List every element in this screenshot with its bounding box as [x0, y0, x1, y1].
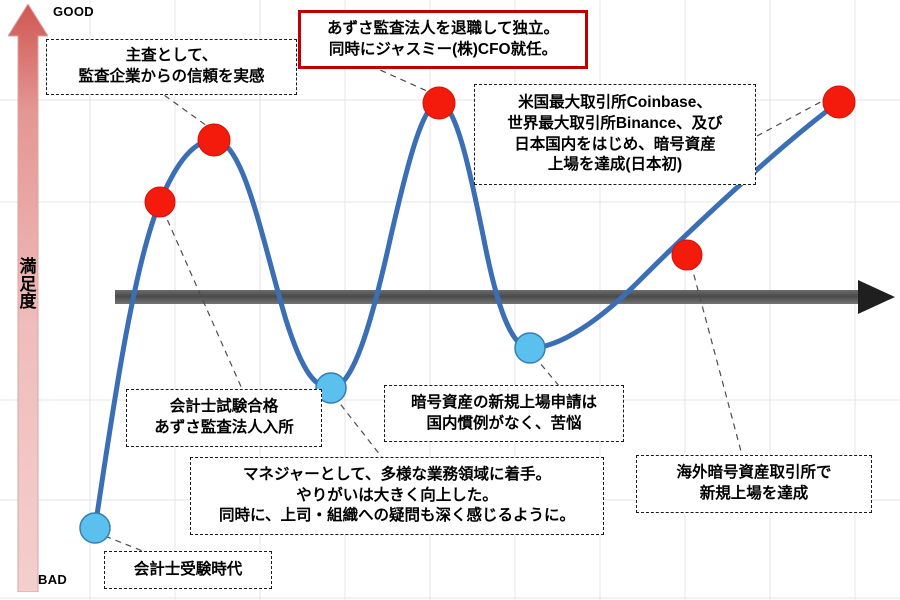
callout-independent[interactable]: あずさ監査法人を退職して独立。 同時にジャスミー(株)CFO就任。	[298, 10, 588, 69]
marker-independent	[423, 87, 455, 119]
satisfaction-journey-chart: 満 足 度 GOOD BAD	[0, 0, 900, 600]
marker-shusa	[198, 124, 230, 156]
callout-cpa-pass[interactable]: 会計士試験合格 あずさ監査法人入所	[126, 389, 322, 447]
callout-listing-pain[interactable]: 暗号資産の新規上場申請は 国内慣例がなく、苦悩	[384, 385, 624, 442]
marker-overseas	[672, 240, 702, 270]
marker-exam-era	[80, 513, 110, 543]
callout-exchanges[interactable]: 米国最大取引所Coinbase、 世界最大取引所Binance、及び 日本国内を…	[474, 84, 756, 185]
marker-exchanges	[823, 86, 855, 118]
callout-shusa[interactable]: 主査として、 監査企業からの信頼を実感	[46, 39, 297, 95]
marker-cpa-pass	[145, 187, 175, 217]
marker-listing-pain	[515, 333, 545, 363]
callout-overseas[interactable]: 海外暗号資産取引所で 新規上場を達成	[636, 455, 872, 513]
callout-exam-era[interactable]: 会計士受験時代	[104, 551, 272, 589]
callout-manager[interactable]: マネジャーとして、多様な業務領域に着手。 やりがいは大きく向上した。 同時に、上…	[190, 457, 604, 535]
time-axis-arrow	[115, 280, 895, 314]
